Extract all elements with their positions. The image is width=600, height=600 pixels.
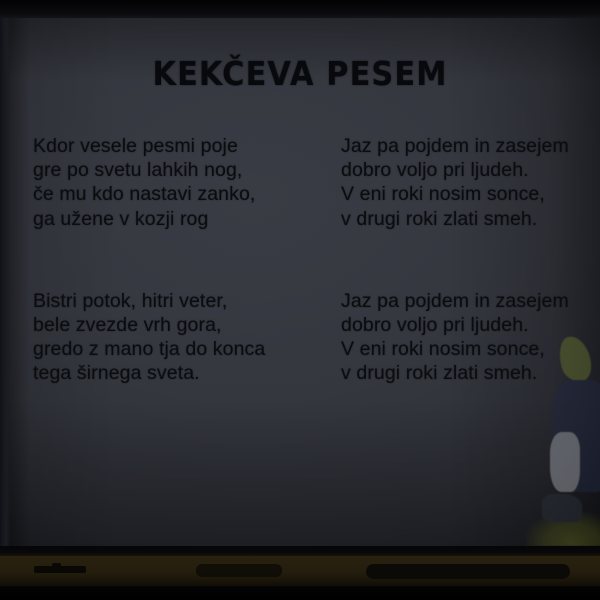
lyrics-stanza-verse-2: Bistri potok, hitri veter, bele zvezde v… bbox=[33, 289, 333, 386]
slide-content: KEKČEVA PESEM Kdor vesele pesmi poje gre… bbox=[0, 18, 600, 546]
screen-edge-left bbox=[0, 18, 11, 546]
screen-bezel-bottom bbox=[0, 546, 600, 600]
slide-title: KEKČEVA PESEM bbox=[24, 54, 576, 93]
lyrics-column-left: Kdor vesele pesmi poje gre po svetu lahk… bbox=[33, 134, 333, 444]
ledge-object-dark-bar bbox=[366, 564, 570, 579]
screen-bezel-top bbox=[0, 0, 600, 18]
photo-frame: KEKČEVA PESEM Kdor vesele pesmi poje gre… bbox=[0, 0, 600, 600]
projection-screen: KEKČEVA PESEM Kdor vesele pesmi poje gre… bbox=[0, 18, 600, 546]
lyrics-stanza-chorus-2: Jaz pa pojdem in zasejem dobro voljo pri… bbox=[341, 289, 596, 386]
lyrics-stanza-chorus-1: Jaz pa pojdem in zasejem dobro voljo pri… bbox=[341, 134, 596, 231]
ledge-object-small-dark bbox=[34, 566, 86, 573]
lyrics-stanza-verse-1: Kdor vesele pesmi poje gre po svetu lahk… bbox=[33, 134, 333, 231]
bezel-bottom-shadow bbox=[0, 586, 600, 600]
lyrics-column-right: Jaz pa pojdem in zasejem dobro voljo pri… bbox=[341, 134, 596, 444]
ledge-object-smudge bbox=[196, 564, 282, 577]
